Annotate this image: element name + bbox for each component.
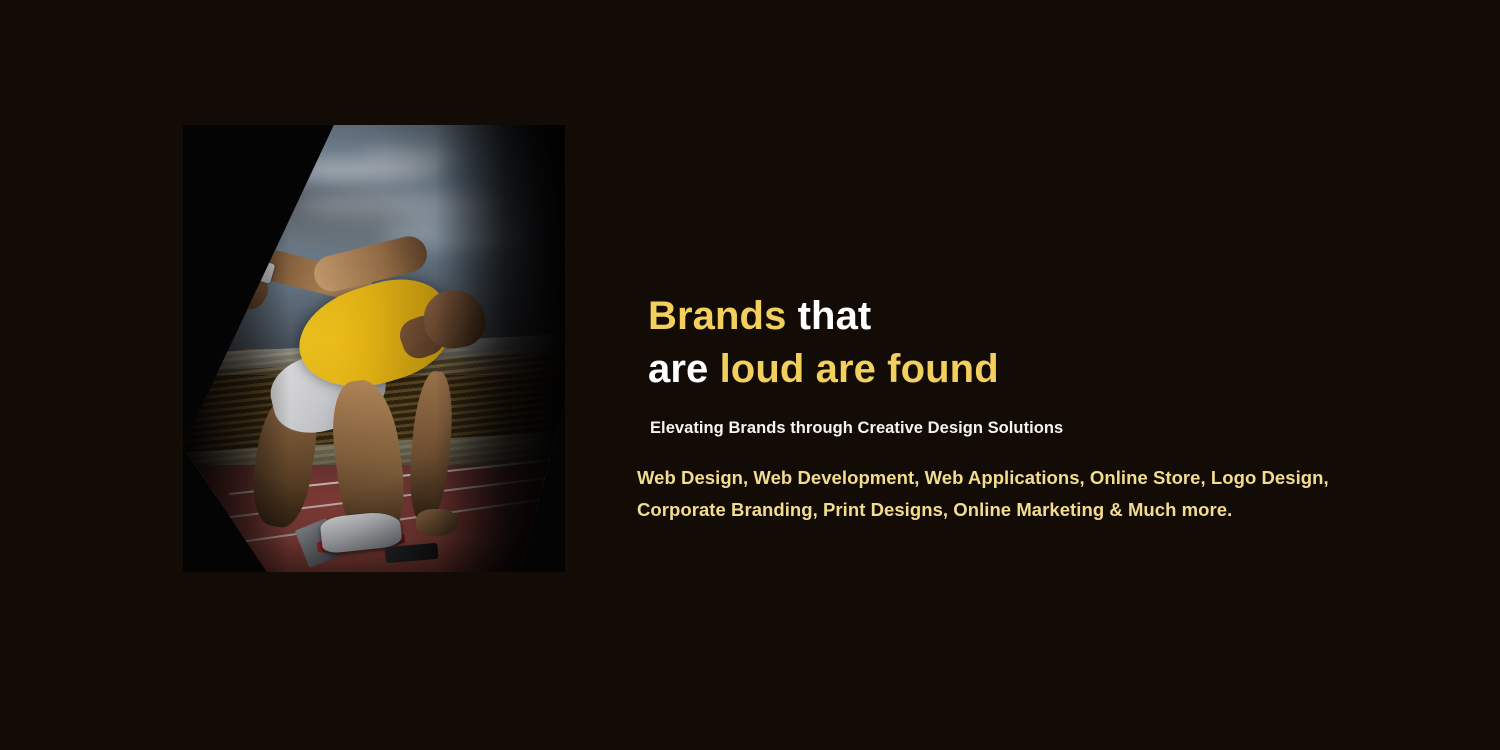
headline-accent-2: loud are found: [720, 347, 999, 391]
services-list: Web Design, Web Development, Web Applica…: [637, 462, 1377, 526]
starting-block-pad: [385, 543, 440, 563]
services-line-2: Corporate Branding, Print Designs, Onlin…: [637, 494, 1377, 526]
headline-plain-2: are: [648, 347, 720, 391]
photo-scene: [183, 125, 565, 572]
hero-banner: Brands that are loud are found Elevating…: [0, 0, 1500, 750]
hero-image-panel: [183, 125, 565, 572]
page-title: Brands that are loud are found: [637, 290, 1437, 396]
hero-copy: Brands that are loud are found Elevating…: [637, 290, 1437, 526]
headline-accent-1: Brands: [648, 294, 786, 338]
athlete-support-hand: [416, 509, 458, 536]
hero-subtitle: Elevating Brands through Creative Design…: [637, 419, 1437, 438]
services-line-1: Web Design, Web Development, Web Applica…: [637, 462, 1377, 494]
headline-line-1: Brands that: [648, 290, 1437, 343]
athlete-support-arm: [406, 369, 457, 524]
headline-plain-1: that: [786, 294, 871, 338]
athlete-figure: [183, 125, 565, 572]
headline-line-2: are loud are found: [648, 343, 1437, 396]
athlete-photo: [183, 125, 565, 572]
